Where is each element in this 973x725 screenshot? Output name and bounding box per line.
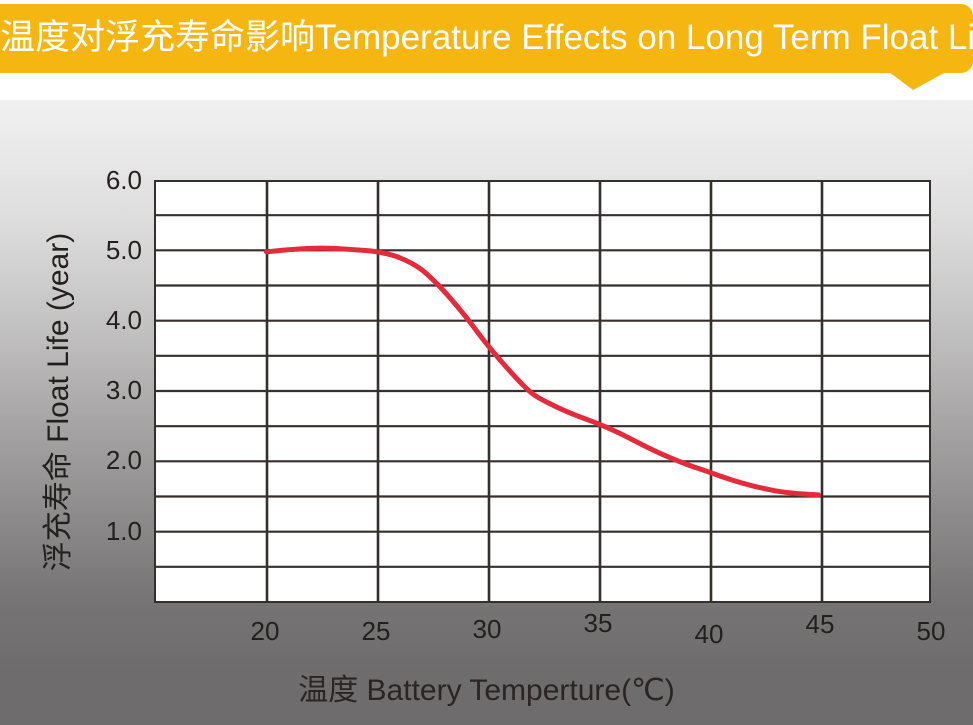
plot-area: [154, 180, 931, 603]
y-tick-label-3: 3.0: [72, 377, 142, 403]
y-tick-label-5: 5.0: [72, 237, 142, 263]
y-tick-label-6: 6.0: [72, 167, 142, 193]
x-tick-label-40: 40: [679, 621, 739, 647]
x-tick-label-25: 25: [346, 618, 406, 644]
y-axis-title: 浮充寿命 Float Life (year): [33, 172, 77, 632]
x-tick-label-20: 20: [235, 618, 295, 644]
chart-page: 温度对浮充寿命影响Temperature Effects on Long Ter…: [0, 0, 973, 725]
x-tick-label-35: 35: [568, 610, 628, 636]
x-tick-label-50: 50: [901, 618, 961, 644]
y-tick-label-1: 1.0: [72, 518, 142, 544]
title-bubble-tail-icon: [855, 66, 955, 90]
y-tick-label-2: 2.0: [72, 447, 142, 473]
float-life-curve: [156, 182, 929, 601]
title-speech-bubble: 温度对浮充寿命影响Temperature Effects on Long Ter…: [0, 0, 973, 100]
x-axis-title: 温度 Battery Temperture(℃): [0, 665, 973, 709]
x-tick-label-30: 30: [457, 616, 517, 642]
page-title: 温度对浮充寿命影响Temperature Effects on Long Ter…: [0, 9, 973, 67]
y-tick-label-4: 4.0: [72, 307, 142, 333]
x-tick-label-45: 45: [790, 611, 850, 637]
